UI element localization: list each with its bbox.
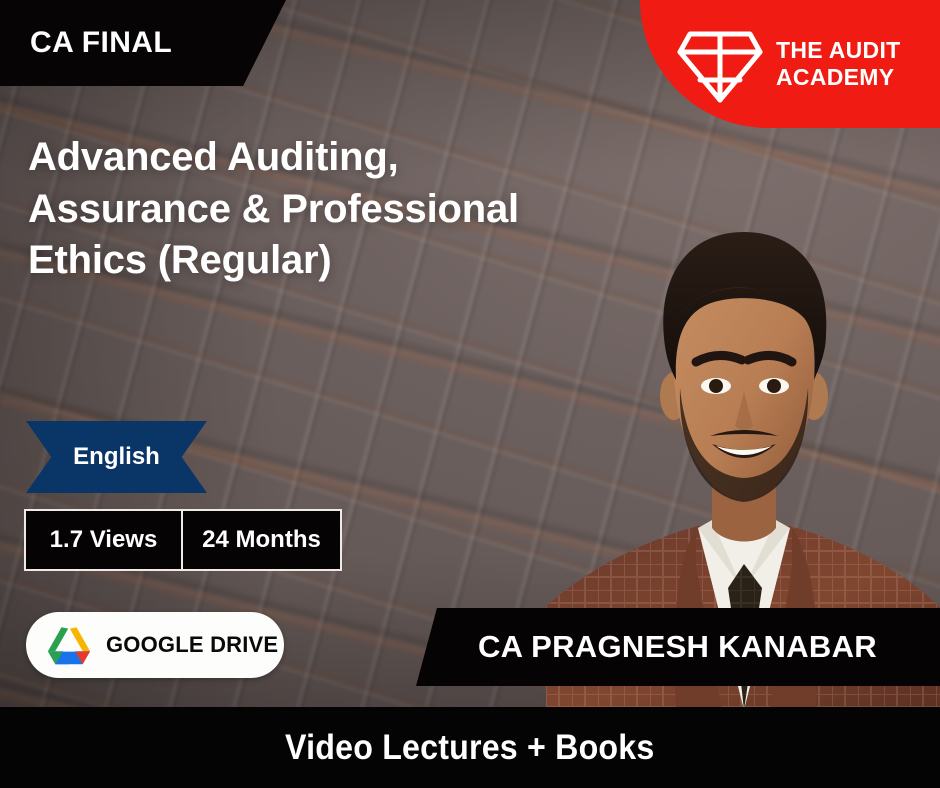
language-badge: English: [26, 421, 207, 493]
brand-name: THE AUDIT ACADEMY: [776, 37, 901, 91]
course-title: Advanced Auditing, Assurance & Professio…: [28, 132, 538, 287]
delivery-mode-label: GOOGLE DRIVE: [106, 632, 278, 658]
brand-name-line2: ACADEMY: [776, 64, 901, 91]
course-level-tag: CA FINAL: [0, 0, 286, 86]
diamond-gem-icon: [676, 22, 764, 106]
google-drive-icon: [46, 625, 92, 666]
course-stats: 1.7 Views 24 Months: [24, 509, 342, 571]
footer-bar: Video Lectures + Books: [0, 707, 940, 788]
footer-label: Video Lectures + Books: [285, 728, 654, 768]
language-badge-label: English: [73, 443, 160, 471]
faculty-name: CA PRAGNESH KANABAR: [478, 629, 877, 665]
course-poster: CA FINAL THE AUDIT ACADEMY Advanced Audi…: [0, 0, 940, 788]
stat-views: 1.7 Views: [24, 509, 182, 571]
faculty-banner: CA PRAGNESH KANABAR: [416, 608, 940, 686]
course-level-label: CA FINAL: [30, 26, 172, 60]
brand-name-line1: THE AUDIT: [776, 37, 901, 64]
delivery-mode-badge: GOOGLE DRIVE: [26, 612, 284, 678]
stat-validity: 24 Months: [182, 509, 342, 571]
